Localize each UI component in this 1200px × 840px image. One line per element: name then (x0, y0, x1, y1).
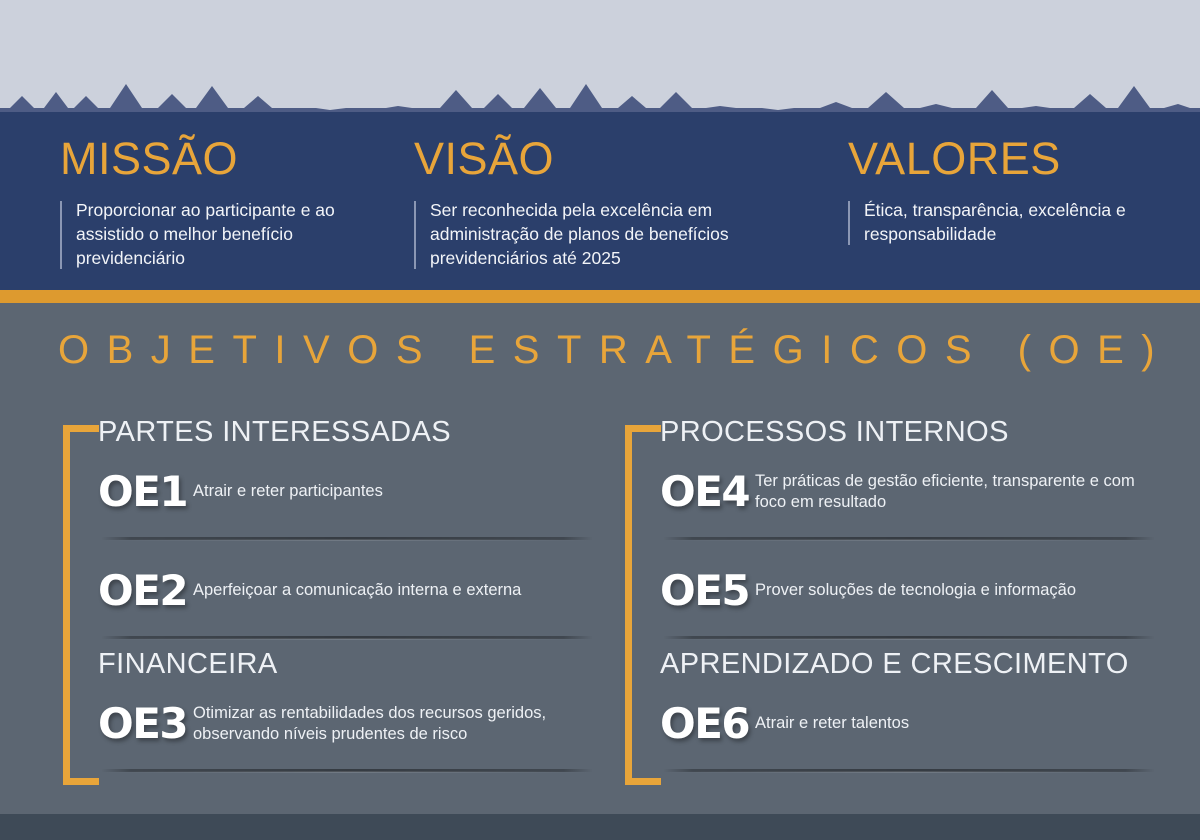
oe4-text: Ter práticas de gestão eficiente, transp… (753, 471, 1155, 513)
gold-bracket-left (63, 425, 99, 785)
gold-bracket-right (625, 425, 661, 785)
objective-row-oe3[interactable]: OE3 Otimizar as rentabilidades dos recur… (98, 695, 593, 753)
column-left: PARTES INTERESSADAS OE1 Atrair e reter p… (58, 418, 593, 793)
oe1-text: Atrair e reter participantes (191, 481, 593, 502)
oe5-text: Prover soluções de tecnologia e informaç… (753, 580, 1155, 601)
header-column-missao: MISSÃO Proporcionar ao participante e ao… (60, 112, 390, 271)
perspective-title: FINANCEIRA (98, 650, 593, 679)
objective-row-oe1[interactable]: OE1 Atrair e reter participantes (98, 463, 593, 521)
perspective-financeira: FINANCEIRA OE3 Otimizar as rentabilidade… (98, 650, 593, 772)
spacer (660, 540, 1155, 562)
row-divider (101, 769, 593, 772)
valores-title: VALORES (848, 136, 1178, 181)
row-divider (101, 537, 593, 540)
visao-text: Ser reconhecida pela excelência em admin… (414, 199, 814, 271)
perspective-processos-internos: PROCESSOS INTERNOS OE4 Ter práticas de g… (660, 418, 1155, 639)
row-divider (101, 636, 593, 639)
missao-title: MISSÃO (60, 136, 390, 181)
oe2-badge: OE2 (98, 570, 191, 612)
valores-text: Ética, transparência, excelência e respo… (848, 199, 1178, 247)
oe3-text: Otimizar as rentabilidades dos recursos … (191, 703, 593, 745)
perspective-title: APRENDIZADO E CRESCIMENTO (660, 650, 1155, 679)
perspective-partes-interessadas: PARTES INTERESSADAS OE1 Atrair e reter p… (98, 418, 593, 639)
oe1-badge: OE1 (98, 471, 191, 513)
objective-row-oe2[interactable]: OE2 Aperfeiçoar a comunicação interna e … (98, 562, 593, 620)
oe6-badge: OE6 (660, 703, 753, 745)
row-divider (663, 636, 1155, 639)
spacer (98, 540, 593, 562)
perspective-title: PARTES INTERESSADAS (98, 418, 593, 447)
missao-text: Proporcionar ao participante e ao assist… (60, 199, 390, 271)
page-title: OBJETIVOS ESTRATÉGICOS (OE) (58, 330, 1172, 370)
infographic-page: MISSÃO Proporcionar ao participante e ao… (0, 0, 1200, 840)
oe6-text: Atrair e reter talentos (753, 713, 1155, 734)
oe3-badge: OE3 (98, 703, 191, 745)
oe2-text: Aperfeiçoar a comunicação interna e exte… (191, 580, 593, 601)
header-column-valores: VALORES Ética, transparência, excelência… (848, 112, 1178, 247)
footer-strip (0, 814, 1200, 840)
objective-row-oe5[interactable]: OE5 Prover soluções de tecnologia e info… (660, 562, 1155, 620)
oe4-badge: OE4 (660, 471, 753, 513)
row-divider (663, 769, 1155, 772)
objective-row-oe6[interactable]: OE6 Atrair e reter talentos (660, 695, 1155, 753)
row-divider (663, 537, 1155, 540)
perspective-aprendizado-crescimento: APRENDIZADO E CRESCIMENTO OE6 Atrair e r… (660, 650, 1155, 772)
visao-title: VISÃO (414, 136, 814, 181)
gold-divider-rule (0, 290, 1200, 303)
oe5-badge: OE5 (660, 570, 753, 612)
objective-row-oe4[interactable]: OE4 Ter práticas de gestão eficiente, tr… (660, 463, 1155, 521)
column-right: PROCESSOS INTERNOS OE4 Ter práticas de g… (620, 418, 1155, 793)
header-column-visao: VISÃO Ser reconhecida pela excelência em… (414, 112, 814, 271)
mission-vision-values-band: MISSÃO Proporcionar ao participante e ao… (0, 112, 1200, 290)
perspective-title: PROCESSOS INTERNOS (660, 418, 1155, 447)
